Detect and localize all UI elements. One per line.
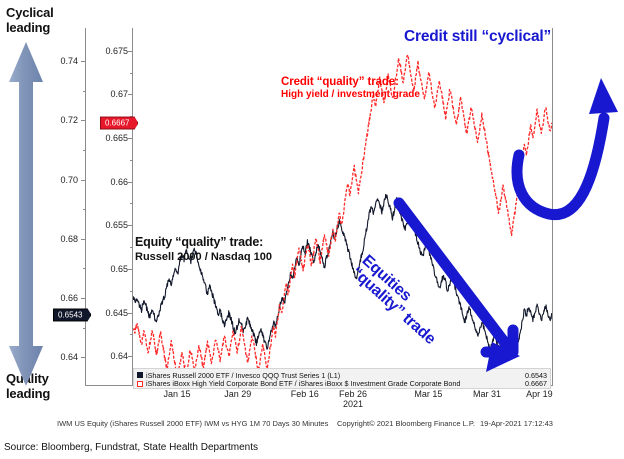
- x-axis-tick-label: Apr 19: [526, 389, 553, 399]
- inner-axis-tick-label: 0.64: [100, 351, 128, 361]
- x-axis-tick-label: Mar 31: [473, 389, 501, 399]
- x-axis-tick-label: Jan 15: [163, 389, 190, 399]
- x-axis-tick-label: Feb 26: [339, 389, 367, 399]
- axis-tick: [81, 120, 86, 121]
- legend-label: iShares iBoxx High Yield Corporate Bond …: [146, 379, 521, 388]
- x-axis-tick-label: Feb 16: [291, 389, 319, 399]
- footer-timestamp: 19-Apr-2021 17:12:43: [480, 419, 553, 428]
- legend-swatch-open-square-icon: [137, 381, 143, 387]
- left-axis-tick-label: 0.70: [60, 175, 78, 185]
- inner-axis-tick-label: 0.665: [100, 133, 128, 143]
- credit-quality-annotation: Credit “quality” trade: High yield / inv…: [281, 76, 420, 100]
- legend-item: iShares iBoxx High Yield Corporate Bond …: [137, 380, 547, 389]
- inner-axis-tick-label: 0.65: [100, 264, 128, 274]
- left-axis-tick-label: 0.64: [60, 352, 78, 362]
- inner-axis-tick-label: 0.675: [100, 46, 128, 56]
- credit-annotation-line1: Credit “quality” trade:: [281, 76, 420, 88]
- left-axis-tick-label: 0.72: [60, 115, 78, 125]
- blue-cyclical-annotation: Credit still “cyclical”: [404, 28, 551, 46]
- legend-swatch-filled-square-icon: [137, 372, 143, 378]
- x-axis-year-label: 2021: [343, 399, 363, 409]
- series-line: [133, 55, 552, 380]
- equity-annotation-line2: Russell 2000 / Nasdaq 100: [135, 251, 272, 263]
- axis-minor-tick: [83, 268, 86, 269]
- left-outer-axis: [85, 28, 86, 386]
- right-axis: [552, 28, 553, 386]
- bloomberg-chart: 0.740.720.700.680.660.64 0.6750.670.6650…: [47, 28, 577, 398]
- axis-tick: [81, 357, 86, 358]
- axis-minor-tick: [83, 328, 86, 329]
- axis-tick: [81, 61, 86, 62]
- axis-tick: [81, 239, 86, 240]
- axis-tick: [81, 298, 86, 299]
- footer-security: IWM US Equity (iShares Russell 2000 ETF)…: [57, 419, 328, 428]
- x-axis-tick-label: Mar 15: [414, 389, 442, 399]
- inner-axis-tick-label: 0.66: [100, 177, 128, 187]
- legend-item: iShares Russell 2000 ETF / Invesco QQQ T…: [137, 371, 547, 380]
- equity-quality-annotation: Equity “quality” trade: Russell 2000 / N…: [135, 235, 272, 263]
- axis-minor-tick: [83, 91, 86, 92]
- inner-axis-tick-label: 0.645: [100, 308, 128, 318]
- equity-annotation-line1: Equity “quality” trade:: [135, 235, 272, 249]
- quality-leading-line2: leading: [6, 386, 50, 401]
- source-note: Source: Bloomberg, Fundstrat, State Heal…: [4, 442, 258, 453]
- axis-minor-tick: [83, 150, 86, 151]
- chart-legend: iShares Russell 2000 ETF / Invesco QQQ T…: [133, 368, 551, 389]
- left-axis-tick-label: 0.68: [60, 234, 78, 244]
- left-axis-tick-label: 0.66: [60, 293, 78, 303]
- inner-axis-tick-label: 0.655: [100, 220, 128, 230]
- regime-double-arrow-icon: [5, 40, 47, 388]
- left-axis-tick-label: 0.74: [60, 56, 78, 66]
- last-value-badge-equity: 0.6543: [53, 308, 91, 321]
- legend-value: 0.6667: [525, 379, 547, 388]
- axis-tick: [81, 180, 86, 181]
- blue-up-arrowhead-icon: [589, 78, 618, 114]
- axis-minor-tick: [83, 209, 86, 210]
- inner-axis-tick-label: 0.67: [100, 89, 128, 99]
- x-axis-tick-label: Jan 29: [224, 389, 251, 399]
- credit-annotation-line2: High yield / investment grade: [281, 89, 420, 100]
- footer-copyright: Copyright© 2021 Bloomberg Finance L.P.: [337, 419, 475, 428]
- cyclical-leading-line1: Cyclical: [6, 5, 54, 20]
